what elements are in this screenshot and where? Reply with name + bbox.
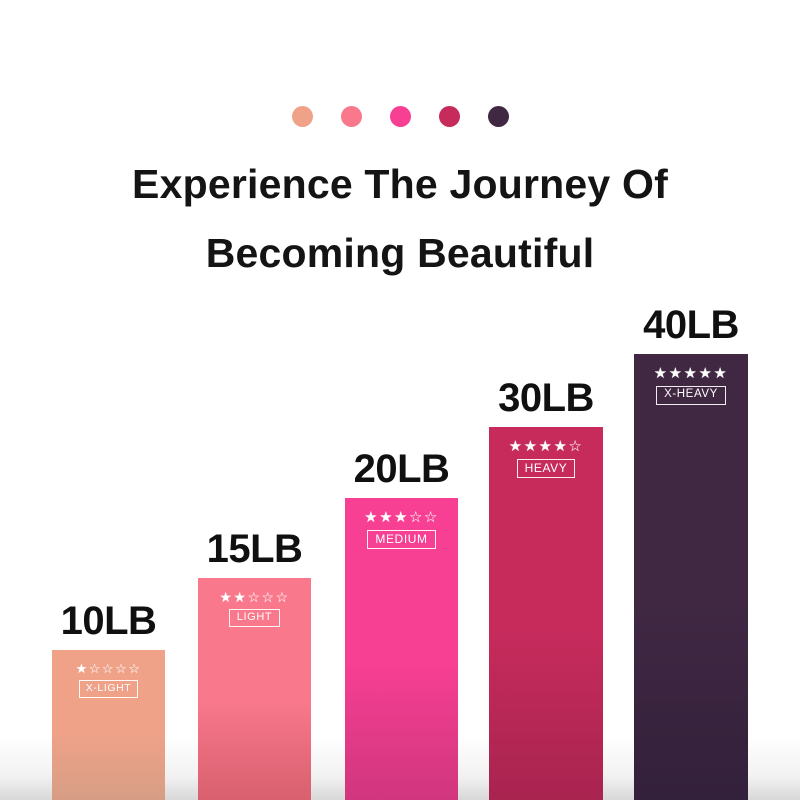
page-title: Experience The Journey Of Becoming Beaut…	[0, 150, 800, 288]
bar-rect: ★★★★☆HEAVY	[489, 427, 603, 800]
page-title-line-1: Experience The Journey Of	[0, 150, 800, 219]
resistance-band-infographic: Experience The Journey Of Becoming Beaut…	[0, 0, 800, 800]
grade-badge: X-LIGHT	[79, 680, 139, 698]
bar-badge-group: ★★☆☆☆LIGHT	[198, 590, 311, 627]
grade-badge: LIGHT	[229, 609, 280, 627]
bar-value-label: 30LB	[498, 376, 594, 421]
star-rating-icon: ★★★☆☆	[364, 510, 439, 525]
star-rating-icon: ★★☆☆☆	[219, 590, 289, 604]
bar-rect: ★★☆☆☆LIGHT	[198, 578, 311, 800]
star-rating-icon: ★★★★★	[654, 366, 729, 381]
bar-rect: ★★★★★X-HEAVY	[634, 354, 748, 800]
bar-chart: 10LB★☆☆☆☆X-LIGHT15LB★★☆☆☆LIGHT20LB★★★☆☆M…	[0, 280, 800, 800]
dot-x-heavy	[488, 106, 509, 127]
page-title-line-2: Becoming Beautiful	[0, 219, 800, 288]
bar-rect: ★☆☆☆☆X-LIGHT	[52, 650, 165, 800]
bar-column-x-heavy[interactable]: 40LB★★★★★X-HEAVY	[634, 354, 748, 800]
grade-badge: HEAVY	[517, 459, 576, 478]
bar-badge-group: ★★★☆☆MEDIUM	[345, 510, 458, 549]
star-rating-icon: ★☆☆☆☆	[76, 662, 142, 675]
bar-value-label: 20LB	[354, 447, 450, 492]
bar-column-heavy[interactable]: 30LB★★★★☆HEAVY	[489, 427, 603, 800]
grade-badge: X-HEAVY	[656, 386, 726, 405]
bar-value-label: 10LB	[61, 599, 157, 644]
bar-badge-group: ★★★★★X-HEAVY	[634, 366, 748, 405]
bar-rect: ★★★☆☆MEDIUM	[345, 498, 458, 800]
bar-value-label: 15LB	[207, 527, 303, 572]
bar-badge-group: ★★★★☆HEAVY	[489, 439, 603, 478]
bar-column-light[interactable]: 15LB★★☆☆☆LIGHT	[198, 578, 311, 800]
dot-light	[341, 106, 362, 127]
dot-heavy	[439, 106, 460, 127]
bar-column-medium[interactable]: 20LB★★★☆☆MEDIUM	[345, 498, 458, 800]
bar-column-x-light[interactable]: 10LB★☆☆☆☆X-LIGHT	[52, 650, 165, 800]
grade-badge: MEDIUM	[367, 530, 435, 549]
bar-badge-group: ★☆☆☆☆X-LIGHT	[52, 662, 165, 698]
bar-value-label: 40LB	[643, 303, 739, 348]
dot-medium	[390, 106, 411, 127]
dot-row	[0, 106, 800, 127]
star-rating-icon: ★★★★☆	[509, 439, 584, 454]
dot-x-light	[292, 106, 313, 127]
